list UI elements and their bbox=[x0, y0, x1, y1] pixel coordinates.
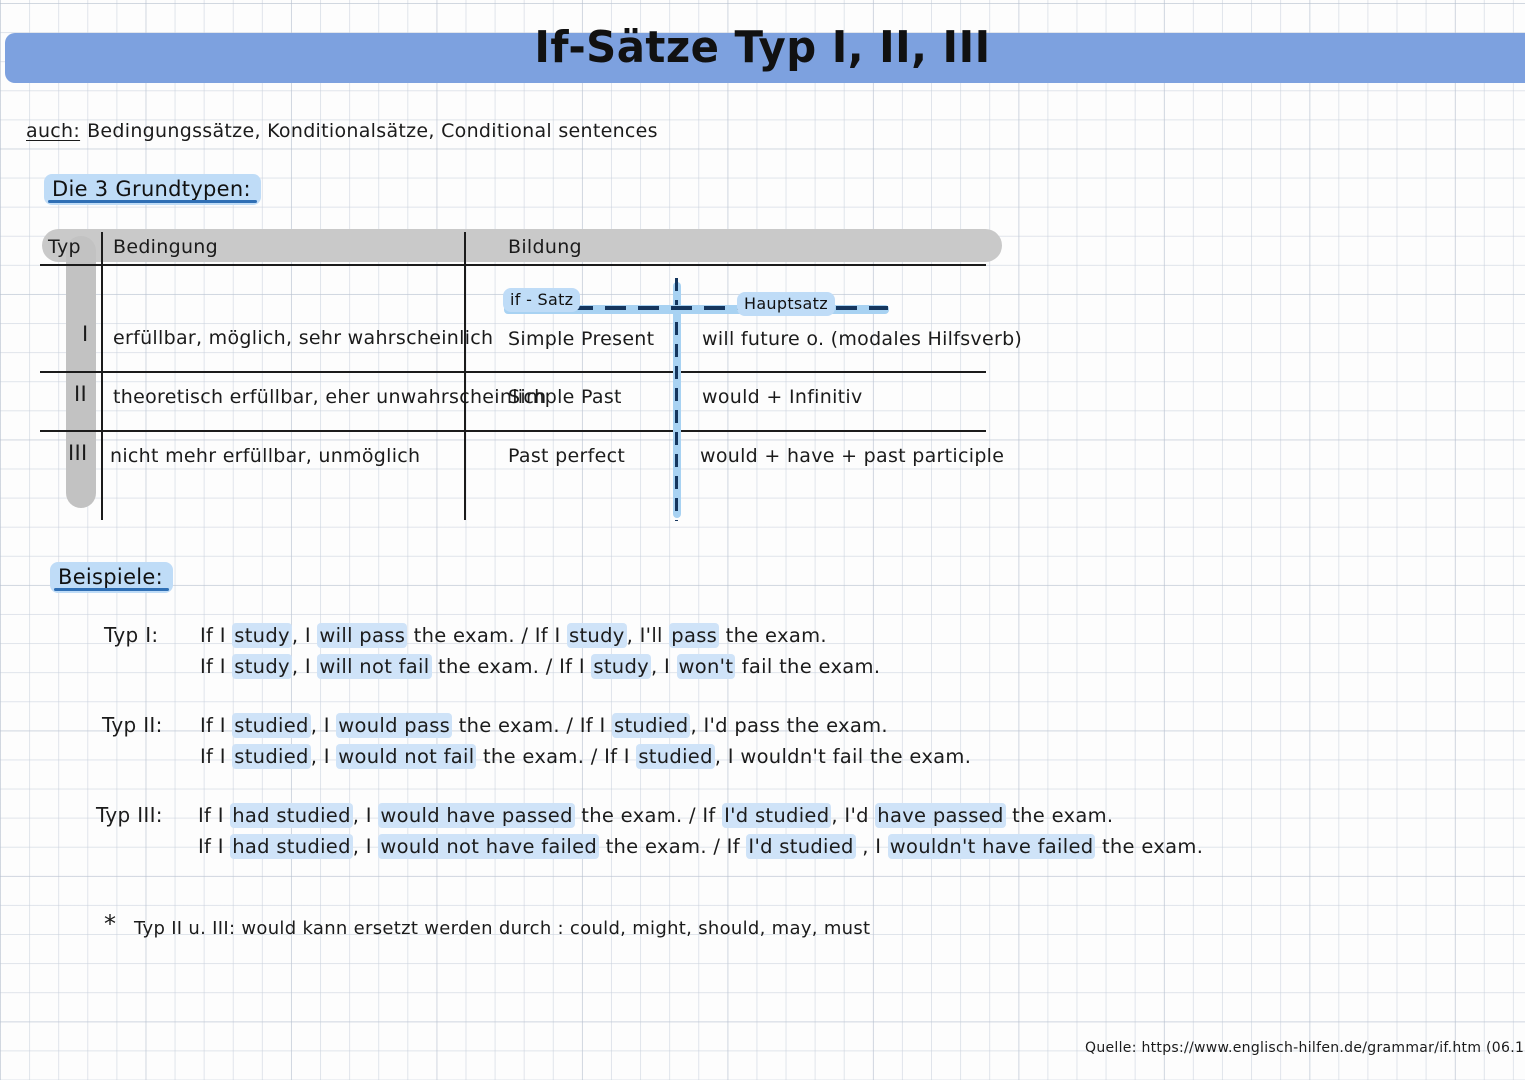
table-row-2-if-satz: Simple Past bbox=[508, 386, 622, 408]
tag-if-satz: if - Satz bbox=[503, 288, 580, 312]
footnote-asterisk: * bbox=[104, 910, 116, 938]
page-title: If-Sätze Typ I, II, III bbox=[38, 22, 1487, 73]
plain-phrase: , I'd pass bbox=[690, 714, 780, 737]
tag-hauptsatz: Hauptsatz bbox=[737, 292, 835, 316]
highlighted-phrase: studied bbox=[612, 713, 690, 738]
plain-phrase: fail the exam. bbox=[826, 745, 971, 768]
plain-phrase: If I bbox=[198, 804, 230, 827]
table-row-1-hauptsatz: will future o. (modales Hilfsverb) bbox=[702, 328, 1022, 350]
example-typ-3-line-1: If I had studied, I would have passed th… bbox=[198, 804, 1113, 827]
plain-phrase: the exam. bbox=[1006, 804, 1114, 827]
plain-phrase: , I bbox=[292, 624, 318, 647]
plain-phrase: If I bbox=[200, 714, 232, 737]
table-row-2-typ: II bbox=[74, 382, 87, 406]
plain-phrase: the exam. bbox=[780, 714, 888, 737]
plain-phrase: the exam. / If I bbox=[432, 655, 592, 678]
also-text: Bedingungssätze, Konditionalsätze, Condi… bbox=[87, 120, 658, 142]
highlighted-phrase: won't bbox=[677, 654, 736, 679]
table-rule-header bbox=[40, 264, 986, 266]
source-line: Quelle: https://www.englisch-hilfen.de/g… bbox=[1085, 1040, 1525, 1056]
highlighted-phrase: would have passed bbox=[378, 803, 574, 828]
highlighted-phrase: pass bbox=[669, 623, 719, 648]
table-row-3-typ: III bbox=[68, 441, 87, 465]
also-known-as-line: auch:Bedingungssätze, Konditionalsätze, … bbox=[26, 120, 658, 142]
table-row-3-if-satz: Past perfect bbox=[508, 445, 625, 467]
highlighted-phrase: studied bbox=[232, 744, 310, 769]
plain-phrase: the exam. / If bbox=[575, 804, 722, 827]
also-label: auch: bbox=[26, 120, 80, 142]
table-vrule-bedingung bbox=[464, 232, 466, 520]
plain-phrase: fail the exam. bbox=[735, 655, 880, 678]
heading-beispiele: Beispiele: bbox=[50, 562, 173, 593]
table-vrule-typ bbox=[101, 232, 103, 520]
table-row-1-typ: I bbox=[82, 322, 89, 346]
example-typ-1-line-1: If I study, I will pass the exam. / If I… bbox=[200, 624, 827, 647]
example-label-typ-1: Typ I: bbox=[104, 623, 158, 647]
example-label-typ-3: Typ III: bbox=[96, 803, 163, 827]
highlighted-phrase: had studied bbox=[230, 834, 353, 859]
plain-phrase: If I bbox=[198, 835, 230, 858]
plain-phrase: , I'll bbox=[627, 624, 670, 647]
plain-phrase: the exam. / If I bbox=[407, 624, 567, 647]
plain-phrase: , I bbox=[311, 714, 337, 737]
highlighted-phrase: will not fail bbox=[317, 654, 431, 679]
example-typ-3-line-2: If I had studied, I would not have faile… bbox=[198, 835, 1203, 858]
highlighted-phrase: study bbox=[232, 654, 292, 679]
highlighted-phrase: have passed bbox=[875, 803, 1005, 828]
plain-phrase: , I'd bbox=[831, 804, 875, 827]
plain-phrase: If I bbox=[200, 624, 232, 647]
plain-phrase: If I bbox=[200, 655, 232, 678]
table-row-2-hauptsatz: would + Infinitiv bbox=[702, 386, 863, 408]
plain-phrase: the exam. / If I bbox=[452, 714, 612, 737]
highlighted-phrase: would not fail bbox=[336, 744, 476, 769]
heading-grundtypen: Die 3 Grundtypen: bbox=[44, 174, 261, 205]
plain-phrase: , I bbox=[856, 835, 888, 858]
plain-phrase: the exam. / If bbox=[599, 835, 746, 858]
table-row-3-hauptsatz: would + have + past participle bbox=[700, 445, 1004, 467]
plain-phrase: , I bbox=[311, 745, 337, 768]
example-typ-2-line-1: If I studied, I would pass the exam. / I… bbox=[200, 714, 888, 737]
plain-phrase: the exam. bbox=[719, 624, 827, 647]
highlighted-phrase: I'd studied bbox=[722, 803, 831, 828]
highlighted-phrase: study bbox=[567, 623, 627, 648]
highlighted-phrase: I'd studied bbox=[746, 834, 855, 859]
highlighted-phrase: study bbox=[591, 654, 651, 679]
table-row-2-bedingung: theoretisch erfüllbar, eher unwahrschein… bbox=[113, 386, 546, 408]
plain-phrase: , I bbox=[651, 655, 677, 678]
table-row-1-if-satz: Simple Present bbox=[508, 328, 654, 350]
example-label-typ-2: Typ II: bbox=[102, 713, 163, 737]
highlighted-phrase: studied bbox=[232, 713, 310, 738]
table-row-1-bedingung: erfüllbar, möglich, sehr wahrscheinlich bbox=[113, 327, 493, 349]
plain-phrase: , I bbox=[353, 804, 379, 827]
table-rule-row2 bbox=[40, 430, 986, 432]
highlighted-phrase: had studied bbox=[230, 803, 353, 828]
highlighted-phrase: studied bbox=[636, 744, 714, 769]
highlighted-phrase: would pass bbox=[336, 713, 452, 738]
example-typ-2-line-2: If I studied, I would not fail the exam.… bbox=[200, 745, 971, 768]
plain-phrase: the exam. / If I bbox=[476, 745, 636, 768]
bildung-divider-dashed-line bbox=[675, 278, 678, 521]
plain-phrase: , I bbox=[353, 835, 379, 858]
table-row-3-bedingung: nicht mehr erfüllbar, unmöglich bbox=[110, 445, 420, 467]
example-typ-1-line-2: If I study, I will not fail the exam. / … bbox=[200, 655, 880, 678]
plain-phrase: , I bbox=[292, 655, 318, 678]
footnote-text: Typ II u. III: would kann ersetzt werden… bbox=[134, 918, 870, 939]
plain-phrase: If I bbox=[200, 745, 232, 768]
plain-phrase: , I wouldn't bbox=[715, 745, 826, 768]
table-header-bildung: Bildung bbox=[508, 236, 582, 258]
highlighted-phrase: study bbox=[232, 623, 292, 648]
highlighted-phrase: would not have failed bbox=[378, 834, 599, 859]
highlighted-phrase: will pass bbox=[317, 623, 407, 648]
table-header-typ: Typ bbox=[48, 236, 81, 258]
table-rule-row1 bbox=[40, 371, 986, 373]
table-header-bedingung: Bedingung bbox=[113, 236, 218, 258]
plain-phrase: the exam. bbox=[1095, 835, 1203, 858]
highlighted-phrase: wouldn't have failed bbox=[888, 834, 1096, 859]
